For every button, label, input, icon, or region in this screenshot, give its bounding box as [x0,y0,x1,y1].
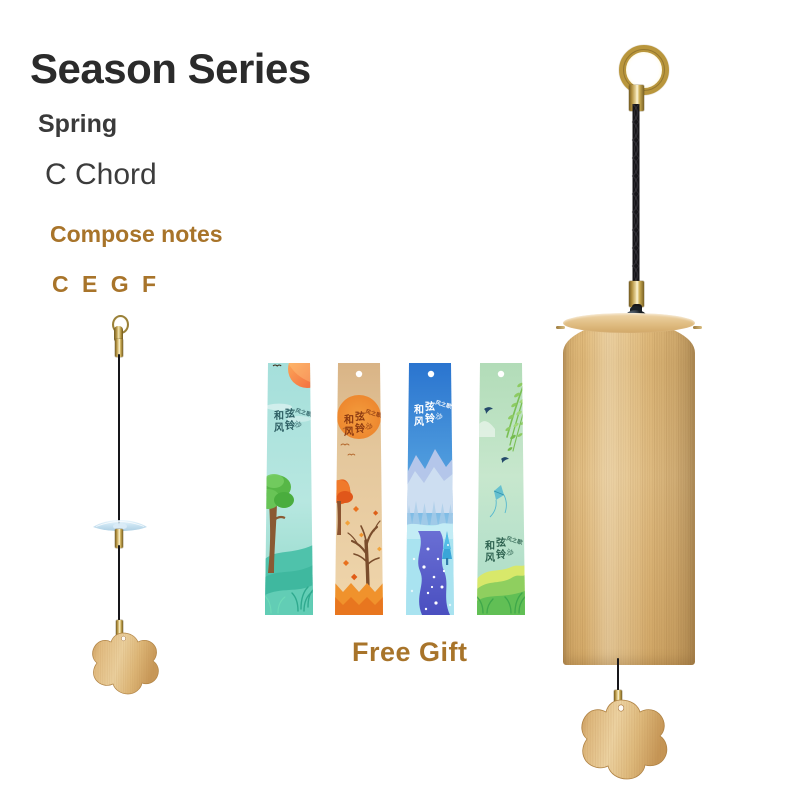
bamboo-flower-plate-large [569,678,673,796]
bamboo-cylinder-body [563,322,695,665]
bookmark-spring: 和 风 弦 铃 风之歌 沙 [265,363,313,615]
bamboo-chord-wind-chime [540,30,770,780]
svg-text:风: 风 [274,422,284,434]
notes-list: C E G F [52,271,160,298]
braided-cord [629,104,643,284]
compose-notes-label: Compose notes [50,221,223,248]
season-label: Spring [38,110,117,139]
svg-text:风: 风 [414,416,424,428]
svg-text:和: 和 [343,413,354,426]
small-wind-chime [60,310,210,710]
svg-text:风: 风 [485,552,495,564]
cylinder-nub-right [693,326,702,329]
bookmark-winter: 和 风 弦 铃 风之歌 沙 [406,363,454,615]
svg-text:和: 和 [484,539,495,552]
cylinder-nub-left [556,326,565,329]
cord-upper [118,354,121,526]
svg-text:风: 风 [344,426,354,438]
svg-text:和: 和 [273,409,284,422]
bookmark-autumn: 和 风 弦 铃 风之歌 沙 [335,363,383,615]
svg-text:和: 和 [413,403,424,416]
bookmark-summer: 和 风 弦 铃 风之歌 沙 [477,363,525,615]
bamboo-flower-plate-small [82,613,164,705]
product-image-canvas: Season Series Spring C Chord Compose not… [0,0,800,800]
svg-text:弦: 弦 [285,407,295,420]
svg-text:弦: 弦 [496,536,506,549]
free-gift-bookmarks: 和 风 弦 铃 风之歌 沙 [265,363,545,618]
page-title: Season Series [30,45,311,93]
svg-text:弦: 弦 [425,400,435,413]
cylinder-top-rim [563,313,695,333]
cylinder-surface [563,322,695,665]
hanging-ring-icon [619,45,669,95]
free-gift-label: Free Gift [352,637,468,668]
svg-text:弦: 弦 [355,410,365,423]
chord-label: C Chord [45,158,157,192]
